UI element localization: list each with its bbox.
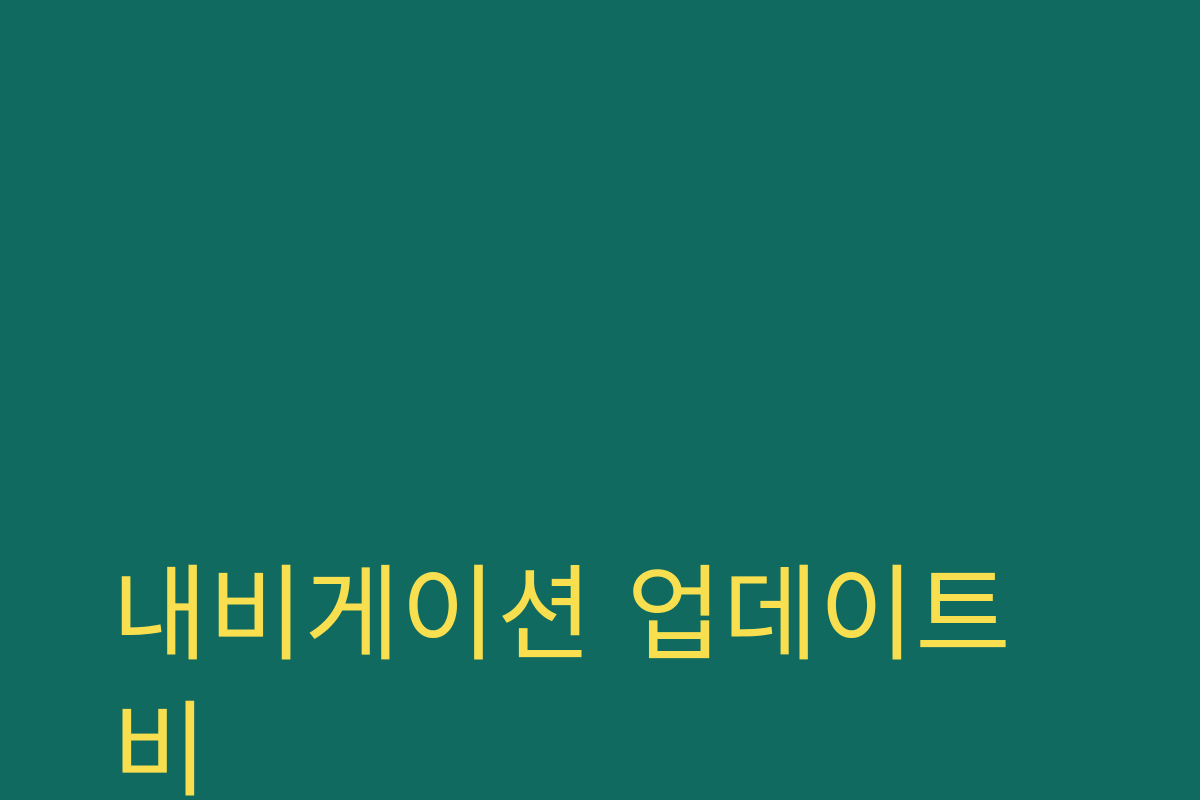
headline-block: 내비게이션 업데이트 비 용 과다 청구 신고 방법 xyxy=(112,278,1092,800)
banner-canvas: 내비게이션 업데이트 비 용 과다 청구 신고 방법 xyxy=(0,0,1200,800)
page-title: 내비게이션 업데이트 비 용 과다 청구 신고 방법 xyxy=(112,278,1092,800)
headline-line-1: 내비게이션 업데이트 비 xyxy=(112,548,1092,800)
